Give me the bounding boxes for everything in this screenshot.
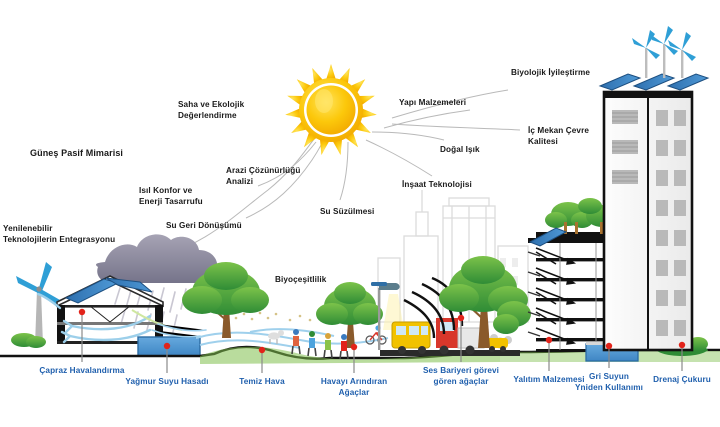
label-yapi-malzemeleri: Yapı Malzemeleri: [399, 98, 466, 109]
label-saha-ve-ekolojik-degerlendirme: Saha ve Ekolojik Değerlendirme: [178, 100, 244, 121]
label-arazi-cozunurlugu-analizi: Arazi Çözünürlüğü Analizi: [226, 166, 300, 187]
infographic-canvas: Güneş Pasif MimarisiSaha ve Ekolojik Değ…: [0, 0, 720, 427]
label-havayi-arindiran-agaclar: Havayı Arındıran Ağaçlar: [321, 377, 387, 398]
water-basin: [138, 324, 206, 356]
label-yalitim-malzemesi: Yalıtım Malzemesi: [513, 375, 584, 386]
label-isil-konfor-ve-enerji-tasarrufu: Isıl Konfor ve Enerji Tasarrufu: [139, 186, 203, 207]
high-rise-building: [600, 26, 708, 350]
label-gunes-pasif-mimarisi: Güneş Pasif Mimarisi: [30, 148, 123, 159]
label-ic-mekan-cevre-kalitesi: İç Mekan Çevre Kalitesi: [528, 126, 589, 147]
label-yenilenebilir-teknolojilerin-entegrasyonu: Yenilenebilir Teknolojilerin Entegrasyon…: [3, 224, 115, 245]
label-biyolojik-iyilestirme: Biyolojik İyileştirme: [511, 68, 590, 79]
label-capraz-havalandirma: Çapraz Havalandırma: [39, 366, 124, 377]
label-temiz-hava: Temiz Hava: [239, 377, 284, 388]
label-dogal-isik: Doğal Işık: [440, 145, 480, 156]
label-su-geri-donusumu: Su Geri Dönüşümü: [166, 221, 242, 232]
sun-icon: [285, 64, 378, 156]
label-gri-suyun-yeniden-kullanimi: Gri Suyun Yniden Kullanımı: [575, 372, 643, 393]
label-su-suzulmesi: Su Süzülmesi: [320, 207, 374, 218]
leaves-drift: [235, 312, 312, 322]
label-insaat-teknolojisi: İnşaat Teknolojisi: [402, 180, 472, 191]
daylight-arrows: [536, 248, 574, 344]
wind-turbine-icon: [632, 26, 696, 78]
label-ses-bariyeri-gorevi-goren-agaclar: Ses Bariyeri görevi gören ağaçlar: [423, 366, 499, 387]
bus-icon: [392, 322, 430, 354]
label-biyocesitlilik: Biyoçeşitlilik: [275, 275, 326, 286]
label-drenaj-cukuru: Drenaj Çukuru: [653, 375, 711, 386]
solar-panel-icon: [600, 74, 708, 90]
label-yagmur-suyu-hasadi: Yağmur Suyu Hasadı: [125, 377, 208, 388]
